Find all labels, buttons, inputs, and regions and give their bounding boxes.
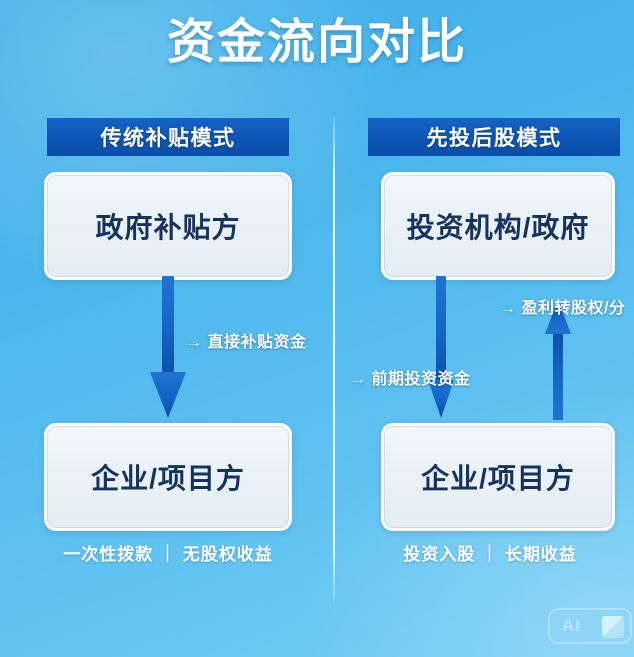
column-header-right: 先投后股模式 [368,118,620,156]
arrow-label-initial-investment: → 前期投资资金 [350,365,470,389]
arrow-label-profit-to-equity: → 盈利转股权/分 [500,294,625,318]
ai-watermark-glyph-icon [602,616,624,638]
ai-watermark-label: AI [562,616,581,636]
column-divider [333,117,335,602]
arrow-down-initial-investment-icon [428,276,454,418]
column-header-left: 传统补贴模式 [47,118,289,156]
node-right-top: 投资机构/政府 [381,172,615,280]
arrow-up-profit-to-equity-icon [545,300,571,420]
column-traditional-subsidy: 传统补贴模式 政府补贴方 [22,118,314,280]
footer-note-left: 一次性拨款 ｜ 无股权收益 [22,540,314,565]
node-right-bottom-wrap: 企业/项目方 [381,423,615,531]
ai-watermark: AI [548,608,632,644]
arrow-down-direct-subsidy-icon [150,276,186,418]
node-right-bottom: 企业/项目方 [381,423,615,531]
arrow-label-direct-subsidy: → 直接补贴资金 [186,328,306,352]
infographic-canvas: 资金流向对比 传统补贴模式 政府补贴方 企业/项目方 一次性拨款 ｜ 无股权收益… [0,0,634,657]
footer-note-right: 投资入股 ｜ 长期收益 [355,540,625,565]
column-invest-then-equity: 先投后股模式 投资机构/政府 [355,118,625,280]
page-title: 资金流向对比 [0,13,634,73]
node-left-top: 政府补贴方 [44,172,292,280]
node-left-bottom: 企业/项目方 [44,423,292,531]
node-left-bottom-wrap: 企业/项目方 [44,423,292,531]
